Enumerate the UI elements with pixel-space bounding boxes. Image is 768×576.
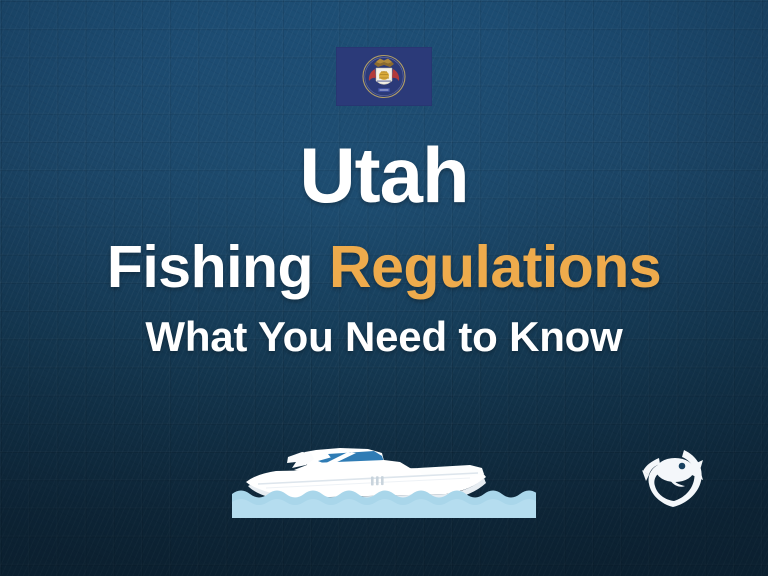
subtitle-word-regulations: Regulations [329,234,661,300]
subtitle-word-fishing: Fishing [107,234,313,300]
fish-hook-logo [640,441,708,511]
tagline: What You Need to Know [0,316,768,358]
water-band [232,491,536,519]
utah-state-flag [336,47,432,106]
subtitle-line: Fishing Regulations [0,238,768,297]
headline-block: Utah Fishing Regulations What You Need t… [0,136,768,358]
poster-canvas: Utah Fishing Regulations What You Need t… [0,0,768,576]
motor-yacht-illustration [232,428,536,518]
page-title: Utah [0,136,768,214]
